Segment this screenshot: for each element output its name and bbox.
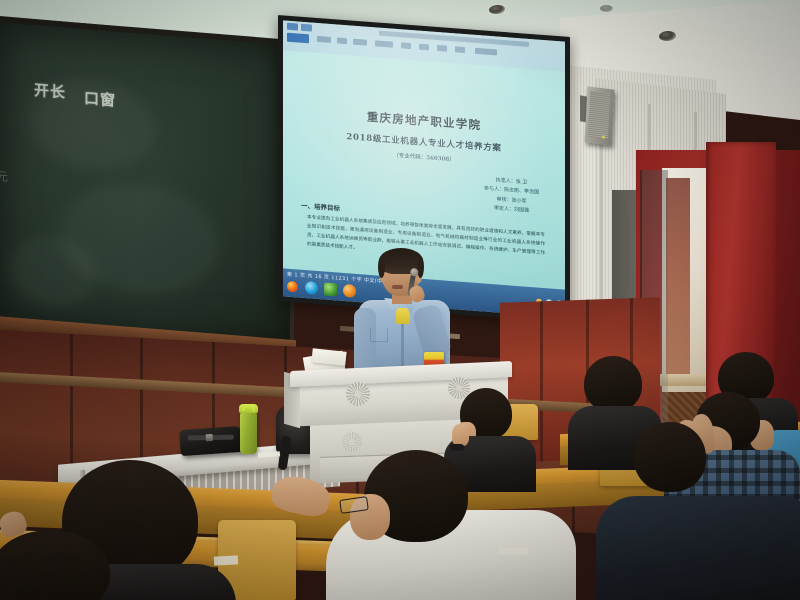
outside-wall-view	[666, 178, 690, 378]
head	[0, 530, 110, 600]
student-navy-right	[596, 470, 800, 600]
chalk-text-2: 口窗	[84, 87, 116, 111]
bottle-handle-icon	[242, 405, 255, 411]
water-bottle	[240, 412, 257, 454]
hand	[452, 424, 469, 446]
taskbar-app-icons	[286, 280, 356, 298]
chalk-text-1: 开长	[34, 79, 66, 103]
mouth	[392, 285, 403, 289]
wall-speaker-icon	[585, 86, 615, 145]
bag-buckle-icon	[206, 434, 213, 441]
firefox-icon[interactable]	[286, 280, 299, 294]
torso	[596, 496, 800, 600]
media-player-icon[interactable]	[343, 284, 356, 298]
head	[634, 422, 706, 492]
shirt-pocket	[370, 328, 388, 342]
student-foreground-center	[0, 530, 140, 600]
podium-medallion-icon	[346, 382, 370, 406]
downlight-icon	[600, 5, 613, 12]
head	[584, 356, 642, 412]
classroom-scene: 开长 口窗 元	[0, 0, 800, 600]
blackboard: 开长 口窗 元	[0, 16, 294, 370]
chalk-text-faint: 元	[0, 167, 8, 185]
speaker-grille	[588, 91, 610, 139]
blackboard-surface: 开长 口窗 元	[0, 22, 290, 345]
wechat-icon[interactable]	[324, 282, 337, 296]
edge-icon[interactable]	[305, 281, 318, 295]
speaker-led-icon	[602, 135, 605, 138]
paper-on-desk	[214, 555, 238, 565]
undershirt	[396, 308, 410, 324]
handbag	[179, 426, 243, 456]
podium-medallion-icon	[342, 432, 362, 452]
student-white-tshirt	[326, 450, 576, 600]
paper-on-desk	[498, 547, 528, 555]
